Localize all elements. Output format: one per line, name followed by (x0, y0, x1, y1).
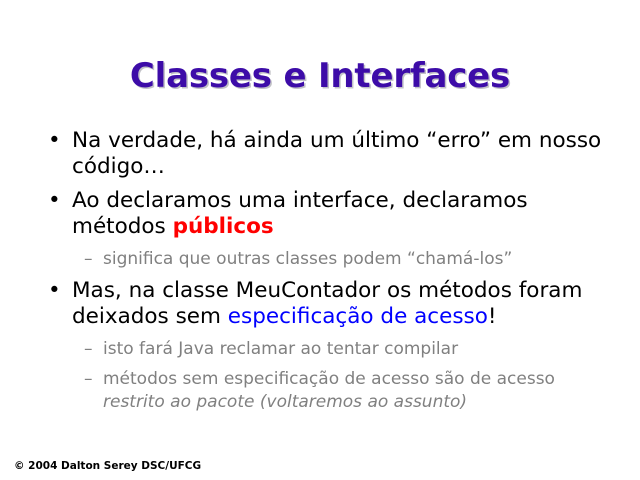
list-item: – isto fará Java reclamar ao tentar comp… (0, 338, 640, 361)
list-item-text: Ao declaramos uma interface, declaramos … (72, 188, 528, 239)
list-item-text: Mas, na classe MeuContador os métodos fo… (72, 278, 582, 329)
bullet-marker-icon: • (48, 188, 61, 214)
sub-bullet-marker-icon: – (84, 368, 93, 391)
list-item-text: métodos sem especificação de acesso são … (103, 369, 555, 412)
sub-bullet-marker-icon: – (84, 338, 93, 361)
emphasis-restrito-ao-pacote: restrito ao pacote (103, 392, 254, 412)
list-item: • Mas, na classe MeuContador os métodos … (0, 278, 640, 330)
list-item: – métodos sem especificação de acesso sã… (0, 368, 640, 414)
highlight-publicos: públicos (173, 214, 274, 239)
list-item: – significa que outras classes podem “ch… (0, 248, 640, 271)
bullet-marker-icon: • (48, 128, 61, 154)
footer-copyright: © 2004 Dalton Serey DSC/UFCG (14, 460, 201, 472)
list-item-text: isto fará Java reclamar ao tentar compil… (103, 339, 458, 359)
highlight-especificacao-acesso: especificação de acesso (228, 304, 488, 329)
sub-bullet-marker-icon: – (84, 248, 93, 271)
emphasis-voltaremos-ao-assunto: (voltaremos ao assunto) (260, 392, 467, 412)
bullet-marker-icon: • (48, 278, 61, 304)
list-item: • Na verdade, há ainda um último “erro” … (0, 128, 640, 180)
list-item-text: significa que outras classes podem “cham… (103, 249, 512, 269)
presentation-slide: Classes e Interfaces • Na verdade, há ai… (0, 0, 640, 480)
page-title: Classes e Interfaces (0, 56, 640, 96)
slide-body: • Na verdade, há ainda um último “erro” … (0, 128, 640, 421)
list-item: • Ao declaramos uma interface, declaramo… (0, 188, 640, 240)
list-item-text: Na verdade, há ainda um último “erro” em… (72, 128, 601, 179)
